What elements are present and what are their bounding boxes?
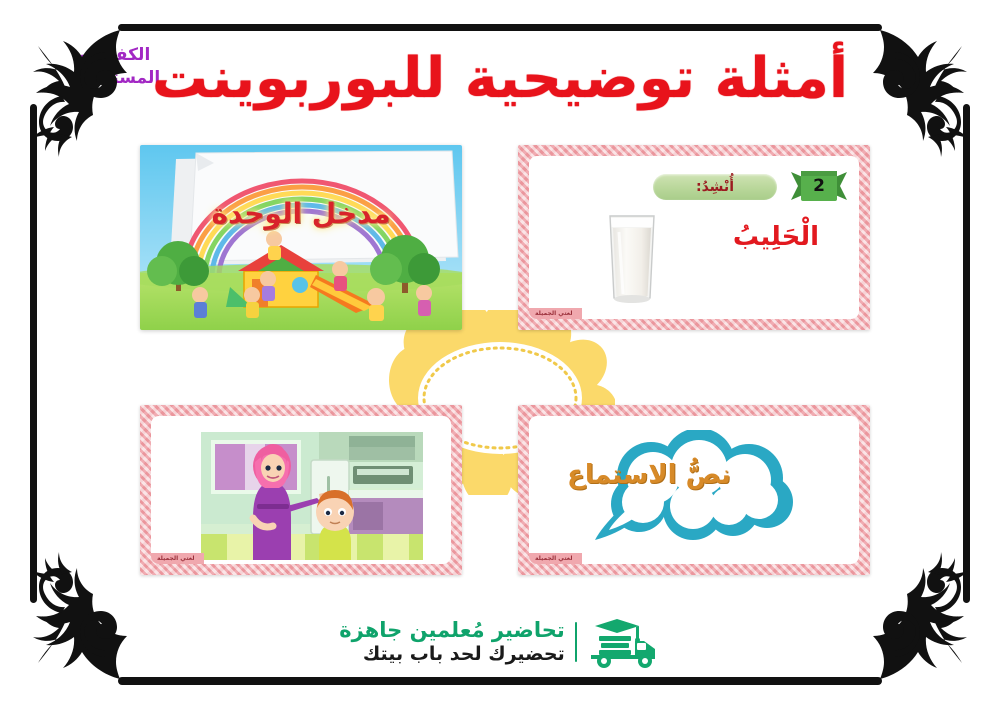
speech-cloud-icon [581, 430, 821, 554]
delivery-truck-icon [587, 615, 661, 669]
playground-illustration-icon [140, 145, 462, 330]
kitchen-scene-artwork [201, 432, 423, 560]
brand-text-block: تحاضير مُعلمين جاهزة تحضيرك لحد باب بيتك [339, 618, 564, 666]
frame-border-left [30, 104, 37, 603]
brand-footer: تحاضير مُعلمين جاهزة تحضيرك لحد باب بيتك [0, 615, 1000, 669]
slide-footer-label: لغتي الجميلة [529, 553, 582, 564]
slide-footer-label: لغتي الجميلة [529, 308, 582, 319]
milk-recite-slide[interactable]: 2 أُنْشِدُ: الْحَلِيبُ [518, 145, 870, 330]
lesson-number-ribbon: 2 [791, 168, 847, 204]
recite-prompt-pill: أُنْشِدُ: [653, 174, 777, 200]
unit-entry-slide[interactable]: مدخل الوحدة [140, 145, 462, 330]
unit-entry-artwork: مدخل الوحدة [140, 145, 462, 330]
listening-text-slide[interactable]: نصُّ الاستماع لغتي الجميلة [518, 405, 870, 575]
frame-border-right [963, 104, 970, 603]
unit-entry-title: مدخل الوحدة [140, 197, 462, 230]
poster-page: أمثلة توضيحية للبوربوينت الكفايات المسته… [0, 0, 1000, 707]
page-title: أمثلة توضيحية للبوربوينت [0, 48, 1000, 110]
slide-footer-label: لغتي الجميلة [151, 553, 204, 564]
milk-glass-icon [601, 212, 663, 304]
brand-divider [575, 622, 577, 662]
listening-text-label: نصُّ الاستماع [529, 460, 769, 490]
frame-border-top [118, 24, 882, 31]
frame-border-bottom [118, 677, 882, 685]
milk-word-text: الْحَلِيبُ [733, 222, 819, 252]
lesson-number-value: 2 [791, 168, 847, 204]
brand-tagline-secondary: تحضيرك لحد باب بيتك [339, 643, 564, 666]
kitchen-scene-slide[interactable]: لغتي الجميلة [140, 405, 462, 575]
brand-tagline-primary: تحاضير مُعلمين جاهزة [339, 618, 564, 643]
